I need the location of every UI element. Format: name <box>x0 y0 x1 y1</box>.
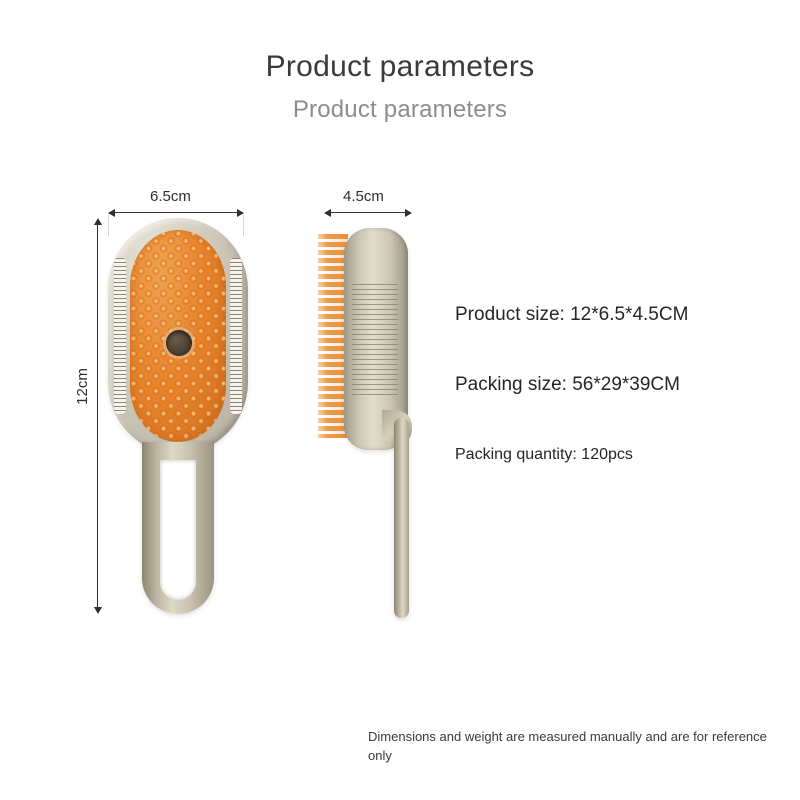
handle-loop <box>142 442 214 614</box>
arrow-head-bottom-icon <box>94 607 102 614</box>
dimension-arrow-front-width <box>108 208 244 217</box>
handle-loop-opening <box>160 460 196 600</box>
spec-product-size: Product size: 12*6.5*4.5CM <box>455 304 785 326</box>
page-subtitle: Product parameters <box>0 96 800 124</box>
comb-teeth <box>114 258 126 414</box>
dimension-label-height: 12cm <box>74 368 91 405</box>
measurement-disclaimer: Dimensions and weight are measured manua… <box>368 728 768 766</box>
specification-list: Product size: 12*6.5*4.5CM Packing size:… <box>455 304 785 464</box>
comb-teeth <box>230 258 242 414</box>
comb-teeth-strip-right <box>230 258 242 414</box>
product-front-view-image <box>108 218 248 618</box>
page-title: Product parameters <box>0 50 800 84</box>
steam-outlet-hole <box>166 330 192 356</box>
product-side-view-image <box>318 228 438 620</box>
comb-teeth-strip-left <box>114 258 126 414</box>
arrow-bar <box>97 222 98 610</box>
dimension-arrow-side-width <box>324 208 412 217</box>
brush-head-shell <box>108 218 248 454</box>
side-comb-ridges <box>352 284 398 398</box>
dimension-label-side-width: 4.5cm <box>343 188 384 205</box>
spec-packing-size: Packing size: 56*29*39CM <box>455 374 785 396</box>
spec-packing-quantity: Packing quantity: 120pcs <box>455 446 785 464</box>
dimension-arrow-height <box>93 218 102 614</box>
arrow-bar <box>328 212 408 213</box>
silicone-bristle-pad <box>130 230 226 442</box>
dimension-label-front-width: 6.5cm <box>150 188 191 205</box>
arrow-head-right-icon <box>405 209 412 217</box>
side-handle-bar <box>394 418 409 618</box>
arrow-bar <box>112 212 240 213</box>
